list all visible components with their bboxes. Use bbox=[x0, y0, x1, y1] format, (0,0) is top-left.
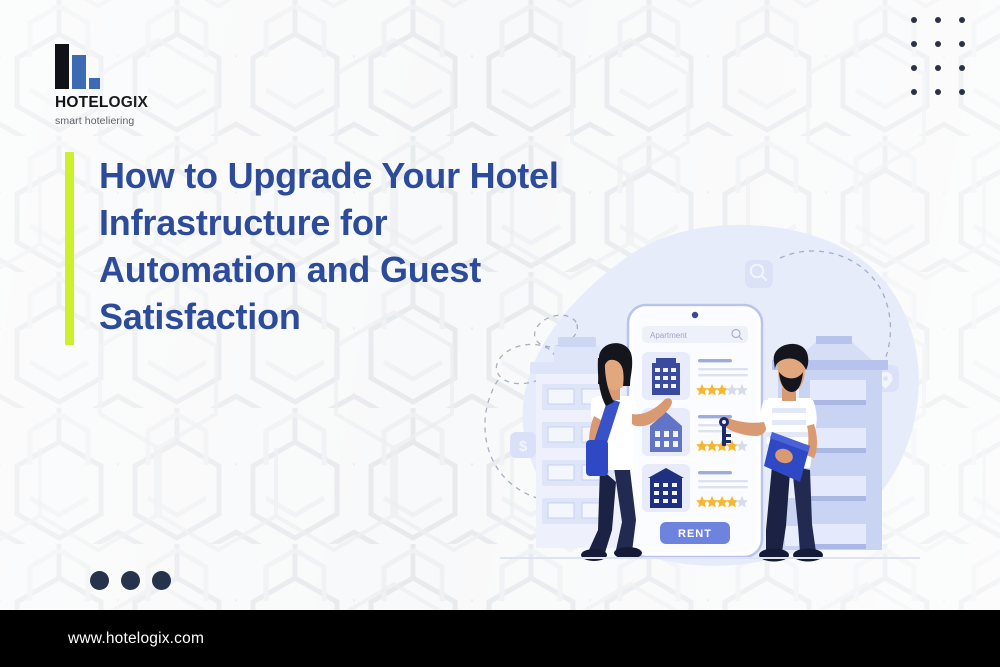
phone-search-placeholder: Apartment bbox=[650, 331, 688, 340]
grid-dot bbox=[959, 89, 965, 95]
dollar-badge: $ bbox=[510, 432, 536, 458]
grid-dot bbox=[959, 41, 965, 47]
logo-mark-icon bbox=[55, 44, 148, 89]
logo-tagline: smart hoteliering bbox=[55, 115, 148, 127]
svg-text:$: $ bbox=[519, 438, 528, 455]
phone-search-field[interactable]: Apartment bbox=[642, 326, 748, 343]
rent-button[interactable]: RENT bbox=[660, 522, 730, 544]
footer-bar: www.hotelogix.com bbox=[0, 610, 1000, 667]
decorative-dots-bottom bbox=[90, 571, 171, 590]
rent-button-label: RENT bbox=[678, 528, 712, 540]
accent-bar bbox=[65, 152, 74, 345]
logo-bar-blue bbox=[72, 55, 86, 89]
grid-dot bbox=[959, 65, 965, 71]
grid-dot bbox=[911, 65, 917, 71]
grid-dot bbox=[935, 41, 941, 47]
grid-dot bbox=[959, 17, 965, 23]
bottom-dot bbox=[152, 571, 171, 590]
banner-canvas: HOTELOGIX smart hoteliering How to Upgra… bbox=[0, 0, 1000, 667]
grid-dot bbox=[935, 65, 941, 71]
bottom-dot bbox=[121, 571, 140, 590]
logo-word-hotel: HOTEL bbox=[55, 94, 109, 111]
grid-dot bbox=[935, 89, 941, 95]
brand-logo[interactable]: HOTELOGIX smart hoteliering bbox=[55, 44, 148, 127]
logo-word-ogix: OGIX bbox=[109, 94, 149, 111]
logo-square-blue bbox=[89, 78, 100, 89]
search-badge bbox=[745, 260, 773, 288]
decorative-dot-grid bbox=[902, 8, 974, 104]
grid-dot bbox=[911, 89, 917, 95]
bottom-dot bbox=[90, 571, 109, 590]
footer-website-url[interactable]: www.hotelogix.com bbox=[68, 630, 204, 648]
page-title: How to Upgrade Your Hotel Infrastructure… bbox=[99, 152, 569, 345]
grid-dot bbox=[911, 41, 917, 47]
grid-dot bbox=[911, 17, 917, 23]
phone-camera-dot bbox=[692, 312, 698, 318]
grid-dot bbox=[935, 17, 941, 23]
logo-wordmark: HOTELOGIX bbox=[55, 95, 148, 111]
logo-bar-black-tall bbox=[55, 44, 69, 89]
headline-block: How to Upgrade Your Hotel Infrastructure… bbox=[65, 152, 569, 345]
